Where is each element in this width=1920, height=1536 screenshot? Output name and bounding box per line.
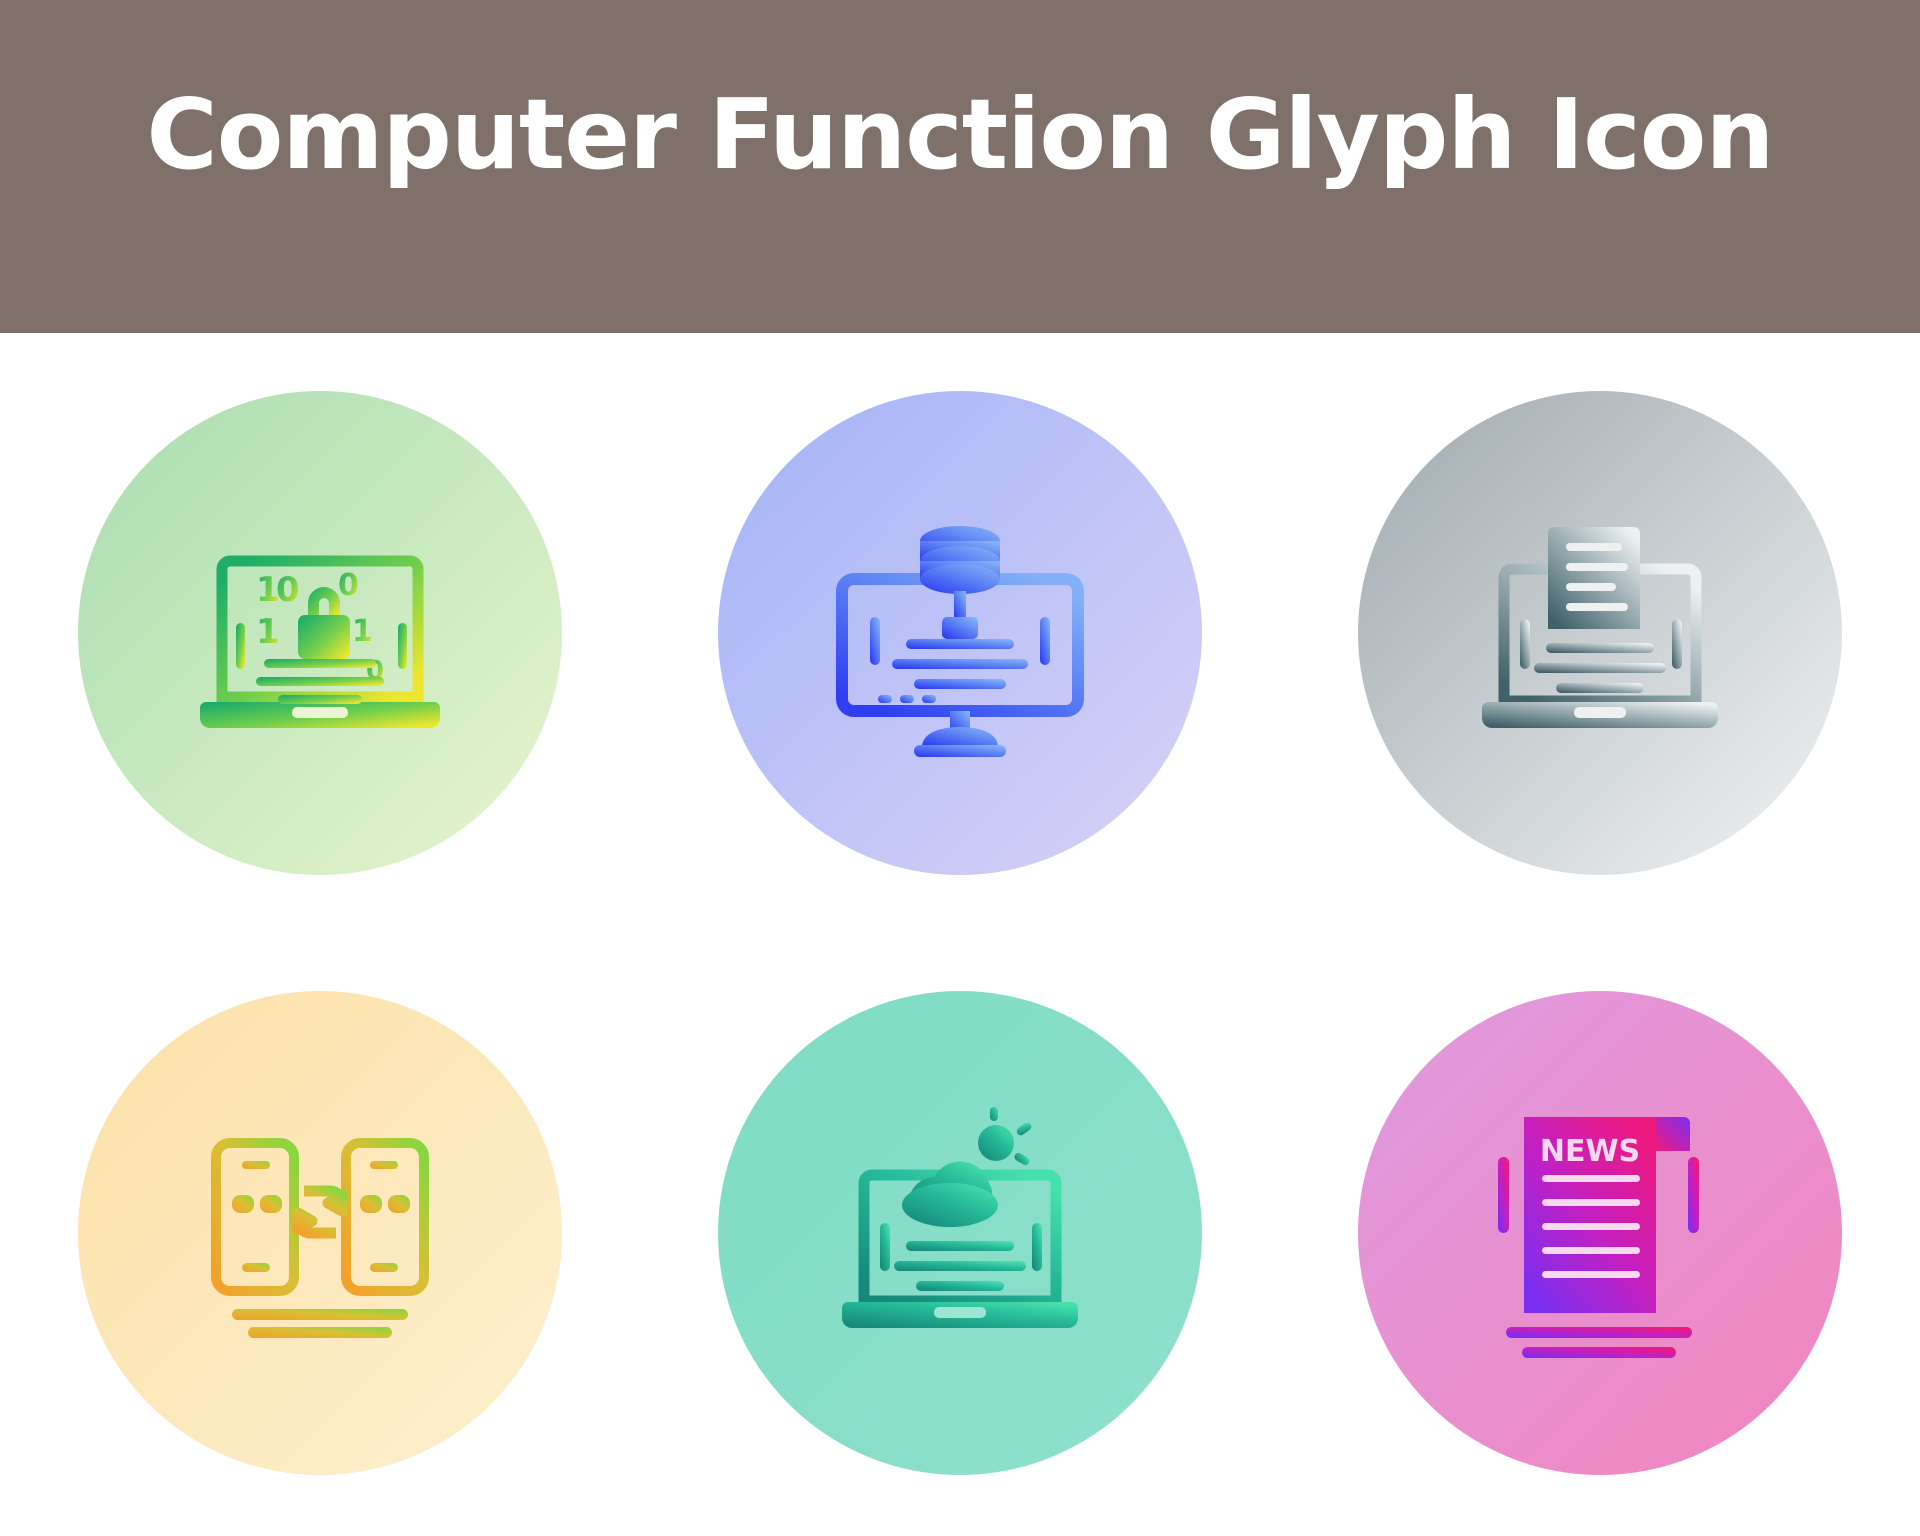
- news-document-icon: NEWS: [1450, 1083, 1750, 1383]
- laptop-document-icon: [1450, 483, 1750, 783]
- svg-text:1: 1: [256, 612, 280, 652]
- laptop-secure-code-icon: 1 0 0 1 1 0: [170, 483, 470, 783]
- icon-grid: 1 0 0 1 1 0: [0, 333, 1920, 1536]
- svg-text:1: 1: [352, 614, 373, 649]
- icon-badge-circle: [78, 991, 562, 1475]
- icon-badge-circle: [718, 991, 1202, 1475]
- svg-text:0: 0: [338, 568, 359, 603]
- mobile-data-transfer-icon: [170, 1083, 470, 1383]
- icon-cell-laptop-document[interactable]: [1280, 333, 1920, 933]
- icon-cell-monitor-database[interactable]: [640, 333, 1280, 933]
- icon-badge-circle: NEWS: [1358, 991, 1842, 1475]
- icon-cell-laptop-cloud[interactable]: [640, 933, 1280, 1533]
- icon-badge-circle: [718, 391, 1202, 875]
- header-bar: Computer Function Glyph Icon: [0, 0, 1920, 333]
- icon-badge-circle: 1 0 0 1 1 0: [78, 391, 562, 875]
- icon-set-page: Computer Function Glyph Icon: [0, 0, 1920, 1536]
- icon-cell-news-document[interactable]: NEWS: [1280, 933, 1920, 1533]
- svg-text:0: 0: [276, 570, 300, 610]
- monitor-database-icon: [810, 483, 1110, 783]
- icon-cell-laptop-secure-code[interactable]: 1 0 0 1 1 0: [0, 333, 640, 933]
- icon-cell-mobile-data-transfer[interactable]: [0, 933, 640, 1533]
- svg-text:NEWS: NEWS: [1540, 1134, 1640, 1169]
- icon-badge-circle: [1358, 391, 1842, 875]
- page-title: Computer Function Glyph Icon: [147, 86, 1774, 183]
- laptop-cloud-weather-icon: [810, 1083, 1110, 1383]
